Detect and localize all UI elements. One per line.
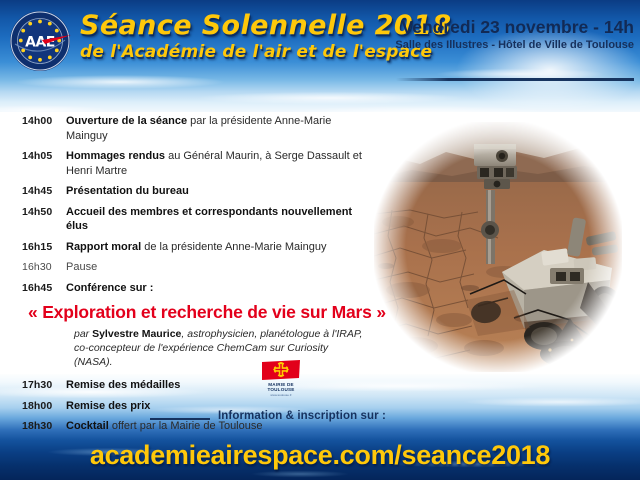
mairie-logo-caption: MAIRIE DE TOULOUSE www.toulouse.fr	[258, 382, 304, 399]
programme-desc: Rapport moral de la présidente Anne-Mari…	[58, 240, 362, 255]
programme-time: 16h30	[22, 261, 58, 273]
conference-speaker: par Sylvestre Maurice, astrophysicien, p…	[74, 327, 364, 369]
speaker-name: Sylvestre Maurice	[92, 328, 181, 340]
programme-row: 14h00 Ouverture de la séance par la prés…	[22, 114, 362, 143]
programme-list: 14h00 Ouverture de la séance par la prés…	[22, 114, 362, 440]
programme-row: 14h45 Présentation du bureau	[22, 184, 362, 199]
programme-row: 16h15 Rapport moral de la présidente Ann…	[22, 240, 362, 255]
title-block: Séance Solennelle 2018 de l'Académie de …	[80, 11, 400, 63]
programme-desc-bold: Conférence sur :	[66, 282, 153, 294]
programme-desc: Pause	[58, 260, 362, 275]
programme-desc: Présentation du bureau	[58, 184, 362, 199]
programme-desc-bold: Remise des médailles	[66, 379, 180, 391]
programme-time: 14h45	[22, 185, 58, 197]
programme-desc-bold: Présentation du bureau	[66, 185, 189, 197]
page-subtitle: de l'Académie de l'air et de l'espace	[80, 41, 400, 63]
programme-row: 16h30 Pause	[22, 260, 362, 275]
event-venue: Salle des Illustres - Hôtel de Ville de …	[384, 38, 634, 53]
conference-title: « Exploration et recherche de vie sur Ma…	[28, 302, 362, 323]
programme-time: 18h00	[22, 400, 58, 412]
programme-time: 14h00	[22, 115, 58, 127]
programme-desc: Conférence sur :	[58, 281, 362, 296]
programme-desc: Hommages rendus au Général Maurin, à Ser…	[58, 149, 362, 178]
occitan-cross-flag-icon	[261, 360, 301, 381]
programme-time: 18h30	[22, 420, 58, 432]
programme-time: 14h05	[22, 150, 58, 162]
svg-text:AAE: AAE	[25, 35, 55, 51]
programme-desc-rest: de la présidente Anne-Marie Mainguy	[141, 241, 326, 253]
programme-time: 16h15	[22, 241, 58, 253]
programme-row: 17h30 Remise des médailles	[22, 378, 362, 393]
programme-desc-bold: Hommages rendus	[66, 150, 165, 162]
programme-desc: Accueil des membres et correspondants no…	[58, 205, 362, 234]
programme-row: 16h45 Conférence sur :	[22, 281, 362, 296]
programme-desc-bold: Rapport moral	[66, 241, 141, 253]
footer-divider	[150, 418, 210, 420]
mairie-de-toulouse-logo: MAIRIE DE TOULOUSE www.toulouse.fr	[258, 360, 304, 394]
speaker-prefix: par	[74, 328, 92, 340]
programme-row: 14h50 Accueil des membres et corresponda…	[22, 205, 362, 234]
footer-url[interactable]: academieairespace.com/seance2018	[0, 440, 640, 471]
programme-desc-bold: Remise des prix	[66, 400, 150, 412]
mars-rover-photo	[374, 122, 622, 372]
programme-desc-bold: Ouverture de la séance	[66, 115, 187, 127]
programme-desc-rest: Pause	[66, 261, 97, 273]
page-title: Séance Solennelle 2018	[80, 11, 400, 41]
programme-time: 17h30	[22, 379, 58, 391]
aae-logo: AAE	[9, 10, 71, 72]
mars-curiosity-rover-image	[374, 122, 622, 372]
aae-logo-icon: AAE	[9, 10, 71, 72]
programme-time: 14h50	[22, 206, 58, 218]
header: AAE Séance Solennelle 2018 de l'Académie…	[0, 0, 640, 92]
mairie-web: www.toulouse.fr	[270, 393, 291, 397]
footer-info-label: Information & inscription sur :	[218, 410, 386, 422]
programme-desc-bold: Accueil des membres et correspondants no…	[66, 206, 352, 233]
event-date: Vendredi 23 novembre - 14h	[384, 17, 634, 38]
programme-row: 14h05 Hommages rendus au Général Maurin,…	[22, 149, 362, 178]
header-divider	[396, 78, 634, 81]
programme-desc-bold: Cocktail	[66, 420, 109, 432]
poster: AAE Séance Solennelle 2018 de l'Académie…	[0, 0, 640, 480]
programme-desc: Ouverture de la séance par la présidente…	[58, 114, 362, 143]
mairie-line2: TOULOUSE	[267, 387, 294, 392]
event-date-block: Vendredi 23 novembre - 14h Salle des Ill…	[384, 17, 634, 53]
programme-time: 16h45	[22, 282, 58, 294]
programme-desc: Remise des médailles	[58, 378, 362, 393]
